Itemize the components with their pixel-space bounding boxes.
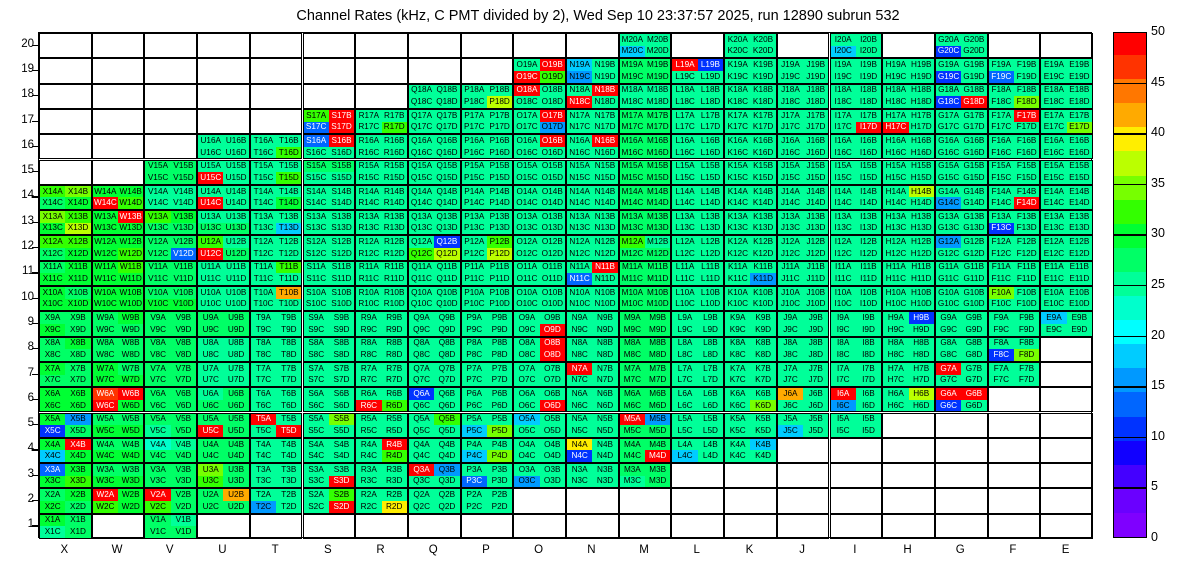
channel-X2C[interactable]: X2C <box>40 501 65 513</box>
channel-F19C[interactable]: F19C <box>989 71 1014 83</box>
channel-R11C[interactable]: R11C <box>356 273 381 285</box>
channel-K12B[interactable]: K12B <box>750 236 775 248</box>
heatmap-cell[interactable]: N12AN12BN12CN12D <box>566 235 619 260</box>
channel-Q9D[interactable]: Q9D <box>434 324 459 336</box>
heatmap-cell[interactable]: Q11AQ11BQ11CQ11D <box>408 261 461 286</box>
heatmap-cell[interactable]: X11AX11BX11CX11D <box>39 261 92 286</box>
channel-M7D[interactable]: M7D <box>645 375 670 387</box>
channel-Q5B[interactable]: Q5B <box>434 414 459 426</box>
channel-W6A[interactable]: W6A <box>93 388 118 400</box>
channel-W8A[interactable]: W8A <box>93 338 118 350</box>
heatmap-cell[interactable]: R16AR16BR16CR16D <box>355 134 408 159</box>
channel-R5B[interactable]: R5B <box>382 414 407 426</box>
channel-M20C[interactable]: M20C <box>620 46 645 58</box>
heatmap-cell[interactable]: N4AN4BN4CN4D <box>566 438 619 463</box>
channel-P5C[interactable]: P5C <box>462 425 487 437</box>
channel-T6A[interactable]: T6A <box>251 388 276 400</box>
heatmap-cell[interactable]: Q14AQ14BQ14CQ14D <box>408 185 461 210</box>
channel-N11A[interactable]: N11A <box>567 262 592 274</box>
channel-U16B[interactable]: U16B <box>223 135 248 147</box>
channel-L6A[interactable]: L6A <box>672 388 697 400</box>
heatmap-cell[interactable]: N18AN18BN18CN18D <box>566 84 619 109</box>
channel-S7D[interactable]: S7D <box>329 375 354 387</box>
channel-N9D[interactable]: N9D <box>592 324 617 336</box>
heatmap-cell[interactable]: T2AT2BT2CT2D <box>250 488 303 513</box>
channel-T8A[interactable]: T8A <box>251 338 276 350</box>
channel-T13D[interactable]: T13D <box>276 223 301 235</box>
channel-O8D[interactable]: O8D <box>540 349 565 361</box>
channel-M10C[interactable]: M10C <box>620 299 645 311</box>
channel-U7A[interactable]: U7A <box>198 363 223 375</box>
heatmap-cell[interactable]: J5AJ5BJ5CJ5D <box>777 413 830 438</box>
heatmap-cell[interactable]: I5AI5BI5CI5D <box>830 413 883 438</box>
channel-I9B[interactable]: I9B <box>856 312 881 324</box>
channel-K8A[interactable]: K8A <box>725 338 750 350</box>
channel-F13C[interactable]: F13C <box>989 223 1014 235</box>
channel-G14B[interactable]: G14B <box>961 186 986 198</box>
channel-T8C[interactable]: T8C <box>251 349 276 361</box>
channel-K10C[interactable]: K10C <box>725 299 750 311</box>
channel-J6B[interactable]: J6B <box>803 388 828 400</box>
channel-I19B[interactable]: I19B <box>856 59 881 71</box>
channel-X5C[interactable]: X5C <box>40 425 65 437</box>
heatmap-cell[interactable]: U16AU16BU16CU16D <box>197 134 250 159</box>
channel-N8C[interactable]: N8C <box>567 349 592 361</box>
channel-N13D[interactable]: N13D <box>592 223 617 235</box>
channel-I6C[interactable]: I6C <box>831 400 856 412</box>
channel-R4C[interactable]: R4C <box>356 450 381 462</box>
heatmap-cell[interactable]: P4AP4BP4CP4D <box>461 438 514 463</box>
channel-I18A[interactable]: I18A <box>831 85 856 97</box>
channel-L5B[interactable]: L5B <box>698 414 723 426</box>
channel-N6A[interactable]: N6A <box>567 388 592 400</box>
channel-N15A[interactable]: N15A <box>567 161 592 173</box>
channel-R6B[interactable]: R6B <box>382 388 407 400</box>
channel-P12C[interactable]: P12C <box>462 248 487 260</box>
channel-S4C[interactable]: S4C <box>304 450 329 462</box>
channel-Q15A[interactable]: Q15A <box>409 161 434 173</box>
channel-X5D[interactable]: X5D <box>65 425 90 437</box>
channel-P12D[interactable]: P12D <box>487 248 512 260</box>
channel-T14B[interactable]: T14B <box>276 186 301 198</box>
channel-H11B[interactable]: H11B <box>909 262 934 274</box>
channel-X14B[interactable]: X14B <box>65 186 90 198</box>
channel-M5C[interactable]: M5C <box>620 425 645 437</box>
heatmap-cell[interactable]: T15AT15BT15CT15D <box>250 160 303 185</box>
channel-H7B[interactable]: H7B <box>909 363 934 375</box>
channel-L13D[interactable]: L13D <box>698 223 723 235</box>
channel-E16C[interactable]: E16C <box>1041 147 1066 159</box>
channel-M4B[interactable]: M4B <box>645 439 670 451</box>
heatmap-cell[interactable]: M10AM10BM10CM10D <box>619 286 672 311</box>
heatmap-cell[interactable]: Q15AQ15BQ15CQ15D <box>408 160 461 185</box>
heatmap-cell[interactable]: L9AL9BL9CL9D <box>671 311 724 336</box>
channel-G7A[interactable]: G7A <box>936 363 961 375</box>
channel-X12A[interactable]: X12A <box>40 236 65 248</box>
channel-V13D[interactable]: V13D <box>171 223 196 235</box>
heatmap-cell[interactable]: M4AM4BM4CM4D <box>619 438 672 463</box>
channel-M8C[interactable]: M8C <box>620 349 645 361</box>
heatmap-cell[interactable]: L12AL12BL12CL12D <box>671 235 724 260</box>
channel-G14D[interactable]: G14D <box>961 197 986 209</box>
heatmap-cell[interactable]: U12AU12BU12CU12D <box>197 235 250 260</box>
heatmap-cell[interactable]: Q3AQ3BQ3CQ3D <box>408 463 461 488</box>
channel-X14C[interactable]: X14C <box>40 197 65 209</box>
channel-E18B[interactable]: E18B <box>1067 85 1092 97</box>
channel-E9A[interactable]: E9A <box>1041 312 1066 324</box>
channel-P14A[interactable]: P14A <box>462 186 487 198</box>
channel-T5A[interactable]: T5A <box>251 414 276 426</box>
channel-I5D[interactable]: I5D <box>856 425 881 437</box>
channel-M3C[interactable]: M3C <box>620 476 645 488</box>
channel-V14B[interactable]: V14B <box>171 186 196 198</box>
channel-X12B[interactable]: X12B <box>65 236 90 248</box>
channel-R3C[interactable]: R3C <box>356 476 381 488</box>
channel-V7D[interactable]: V7D <box>171 375 196 387</box>
channel-M9D[interactable]: M9D <box>645 324 670 336</box>
channel-O13C[interactable]: O13C <box>514 223 539 235</box>
channel-N9B[interactable]: N9B <box>592 312 617 324</box>
channel-L18C[interactable]: L18C <box>672 96 697 108</box>
channel-P14C[interactable]: P14C <box>462 197 487 209</box>
channel-U13C[interactable]: U13C <box>198 223 223 235</box>
heatmap-cell[interactable]: I8AI8BI8CI8D <box>830 337 883 362</box>
heatmap-cell[interactable]: V12AV12BV12CV12D <box>144 235 197 260</box>
heatmap-cell[interactable]: P6AP6BP6CP6D <box>461 387 514 412</box>
channel-Q5D[interactable]: Q5D <box>434 425 459 437</box>
channel-M19A[interactable]: M19A <box>620 59 645 71</box>
channel-R15C[interactable]: R15C <box>356 172 381 184</box>
channel-R10B[interactable]: R10B <box>382 287 407 299</box>
channel-U13A[interactable]: U13A <box>198 211 223 223</box>
heatmap-cell[interactable]: S12AS12BS12CS12D <box>303 235 356 260</box>
channel-P11D[interactable]: P11D <box>487 273 512 285</box>
channel-Q4B[interactable]: Q4B <box>434 439 459 451</box>
channel-O7A[interactable]: O7A <box>514 363 539 375</box>
heatmap-cell[interactable]: O17AO17BO17CO17D <box>513 109 566 134</box>
channel-J11D[interactable]: J11D <box>803 273 828 285</box>
channel-O7C[interactable]: O7C <box>514 375 539 387</box>
channel-J19C[interactable]: J19C <box>778 71 803 83</box>
heatmap-cell[interactable]: I7AI7BI7CI7D <box>830 362 883 387</box>
channel-S6D[interactable]: S6D <box>329 400 354 412</box>
channel-R7C[interactable]: R7C <box>356 375 381 387</box>
heatmap-cell[interactable]: I15AI15BI15CI15D <box>830 160 883 185</box>
heatmap-cell[interactable]: N15AN15BN15CN15D <box>566 160 619 185</box>
heatmap-cell[interactable]: W12AW12BW12CW12D <box>92 235 145 260</box>
channel-K17C[interactable]: K17C <box>725 122 750 134</box>
channel-L9D[interactable]: L9D <box>698 324 723 336</box>
channel-M14C[interactable]: M14C <box>620 197 645 209</box>
channel-T9C[interactable]: T9C <box>251 324 276 336</box>
channel-Q11C[interactable]: Q11C <box>409 273 434 285</box>
channel-V14D[interactable]: V14D <box>171 197 196 209</box>
channel-Q3A[interactable]: Q3A <box>409 464 434 476</box>
channel-I14C[interactable]: I14C <box>831 197 856 209</box>
heatmap-cell[interactable]: M15AM15BM15CM15D <box>619 160 672 185</box>
channel-L17C[interactable]: L17C <box>672 122 697 134</box>
channel-N15C[interactable]: N15C <box>567 172 592 184</box>
channel-E18A[interactable]: E18A <box>1041 85 1066 97</box>
channel-S3B[interactable]: S3B <box>329 464 354 476</box>
channel-P9B[interactable]: P9B <box>487 312 512 324</box>
channel-W10B[interactable]: W10B <box>118 287 143 299</box>
heatmap-cell[interactable]: M20AM20BM20CM20D <box>619 33 672 58</box>
channel-H17C[interactable]: H17C <box>883 122 908 134</box>
heatmap-cell[interactable]: S16AS16BS16CS16D <box>303 134 356 159</box>
channel-N6C[interactable]: N6C <box>567 400 592 412</box>
channel-H15B[interactable]: H15B <box>909 161 934 173</box>
channel-G13B[interactable]: G13B <box>961 211 986 223</box>
channel-J9C[interactable]: J9C <box>778 324 803 336</box>
channel-W9B[interactable]: W9B <box>118 312 143 324</box>
channel-L16C[interactable]: L16C <box>672 147 697 159</box>
heatmap-cell[interactable]: W10AW10BW10CW10D <box>92 286 145 311</box>
channel-R4B[interactable]: R4B <box>382 439 407 451</box>
channel-G15C[interactable]: G15C <box>936 172 961 184</box>
heatmap-cell[interactable]: M13AM13BM13CM13D <box>619 210 672 235</box>
heatmap-cell[interactable]: I12AI12BI12CI12D <box>830 235 883 260</box>
heatmap-cell[interactable]: I9AI9BI9CI9D <box>830 311 883 336</box>
channel-R14C[interactable]: R14C <box>356 197 381 209</box>
channel-Q13D[interactable]: Q13D <box>434 223 459 235</box>
channel-S7A[interactable]: S7A <box>304 363 329 375</box>
channel-O19D[interactable]: O19D <box>540 71 565 83</box>
channel-G17C[interactable]: G17C <box>936 122 961 134</box>
channel-R5A[interactable]: R5A <box>356 414 381 426</box>
channel-W2C[interactable]: W2C <box>93 501 118 513</box>
heatmap-cell[interactable]: N16AN16BN16CN16D <box>566 134 619 159</box>
channel-K17D[interactable]: K17D <box>750 122 775 134</box>
channel-E15B[interactable]: E15B <box>1067 161 1092 173</box>
channel-X11B[interactable]: X11B <box>65 262 90 274</box>
channel-U14C[interactable]: U14C <box>198 197 223 209</box>
channel-O14B[interactable]: O14B <box>540 186 565 198</box>
channel-N17B[interactable]: N17B <box>592 110 617 122</box>
channel-X13B[interactable]: X13B <box>65 211 90 223</box>
channel-M19C[interactable]: M19C <box>620 71 645 83</box>
channel-V2A[interactable]: V2A <box>145 489 170 501</box>
channel-M6A[interactable]: M6A <box>620 388 645 400</box>
channel-L12D[interactable]: L12D <box>698 248 723 260</box>
channel-H14D[interactable]: H14D <box>909 197 934 209</box>
channel-V14A[interactable]: V14A <box>145 186 170 198</box>
channel-G9B[interactable]: G9B <box>961 312 986 324</box>
channel-K18A[interactable]: K18A <box>725 85 750 97</box>
heatmap-cell[interactable]: K17AK17BK17CK17D <box>724 109 777 134</box>
channel-Q6D[interactable]: Q6D <box>434 400 459 412</box>
heatmap-cell[interactable]: E12AE12BE12CE12D <box>1040 235 1093 260</box>
channel-P12A[interactable]: P12A <box>462 236 487 248</box>
channel-I11C[interactable]: I11C <box>831 273 856 285</box>
channel-V5A[interactable]: V5A <box>145 414 170 426</box>
heatmap-cell[interactable]: J8AJ8BJ8CJ8D <box>777 337 830 362</box>
channel-U10D[interactable]: U10D <box>223 299 248 311</box>
heatmap-cell[interactable]: S10AS10BS10CS10D <box>303 286 356 311</box>
channel-K6B[interactable]: K6B <box>750 388 775 400</box>
heatmap-cell[interactable]: L11AL11BL11CL11D <box>671 261 724 286</box>
channel-M20A[interactable]: M20A <box>620 34 645 46</box>
channel-O18B[interactable]: O18B <box>540 85 565 97</box>
channel-Q4A[interactable]: Q4A <box>409 439 434 451</box>
channel-S5D[interactable]: S5D <box>329 425 354 437</box>
channel-H15C[interactable]: H15C <box>883 172 908 184</box>
heatmap-cell[interactable]: L19AL19BL19CL19D <box>671 58 724 83</box>
channel-P9D[interactable]: P9D <box>487 324 512 336</box>
channel-G13A[interactable]: G13A <box>936 211 961 223</box>
channel-P13A[interactable]: P13A <box>462 211 487 223</box>
heatmap-cell[interactable]: K14AK14BK14CK14D <box>724 185 777 210</box>
channel-S16D[interactable]: S16D <box>329 147 354 159</box>
heatmap-cell[interactable]: H14AH14BH14CH14D <box>882 185 935 210</box>
channel-R8D[interactable]: R8D <box>382 349 407 361</box>
channel-M18A[interactable]: M18A <box>620 85 645 97</box>
heatmap-cell[interactable]: L10AL10BL10CL10D <box>671 286 724 311</box>
channel-U9C[interactable]: U9C <box>198 324 223 336</box>
channel-F12D[interactable]: F12D <box>1014 248 1039 260</box>
channel-J16D[interactable]: J16D <box>803 147 828 159</box>
channel-H17B[interactable]: H17B <box>909 110 934 122</box>
channel-K12C[interactable]: K12C <box>725 248 750 260</box>
channel-W12A[interactable]: W12A <box>93 236 118 248</box>
heatmap-cell[interactable]: G9AG9BG9CG9D <box>935 311 988 336</box>
channel-R6D[interactable]: R6D <box>382 400 407 412</box>
channel-U6A[interactable]: U6A <box>198 388 223 400</box>
channel-O3D[interactable]: O3D <box>540 476 565 488</box>
channel-J11B[interactable]: J11B <box>803 262 828 274</box>
channel-F7A[interactable]: F7A <box>989 363 1014 375</box>
channel-P3A[interactable]: P3A <box>462 464 487 476</box>
channel-R16D[interactable]: R16D <box>382 147 407 159</box>
heatmap-cell[interactable]: R10AR10BR10CR10D <box>355 286 408 311</box>
channel-O15C[interactable]: O15C <box>514 172 539 184</box>
channel-F14A[interactable]: F14A <box>989 186 1014 198</box>
channel-Q14D[interactable]: Q14D <box>434 197 459 209</box>
channel-V11B[interactable]: V11B <box>171 262 196 274</box>
channel-M11A[interactable]: M11A <box>620 262 645 274</box>
channel-K15B[interactable]: K15B <box>750 161 775 173</box>
channel-L14C[interactable]: L14C <box>672 197 697 209</box>
heatmap-cell[interactable]: O9AO9BO9CO9D <box>513 311 566 336</box>
channel-J17C[interactable]: J17C <box>778 122 803 134</box>
channel-K11B[interactable]: K11B <box>750 262 775 274</box>
channel-F18D[interactable]: F18D <box>1014 96 1039 108</box>
channel-O17C[interactable]: O17C <box>514 122 539 134</box>
channel-X11A[interactable]: X11A <box>40 262 65 274</box>
channel-M16C[interactable]: M16C <box>620 147 645 159</box>
channel-O15B[interactable]: O15B <box>540 161 565 173</box>
heatmap-cell[interactable]: N5AN5BN5CN5D <box>566 413 619 438</box>
channel-S11C[interactable]: S11C <box>304 273 329 285</box>
heatmap-cell[interactable]: O11AO11BO11CO11D <box>513 261 566 286</box>
channel-M9C[interactable]: M9C <box>620 324 645 336</box>
heatmap-cell[interactable]: Q5AQ5BQ5CQ5D <box>408 413 461 438</box>
channel-L14D[interactable]: L14D <box>698 197 723 209</box>
channel-M6B[interactable]: M6B <box>645 388 670 400</box>
heatmap-cell[interactable]: P3AP3BP3CP3D <box>461 463 514 488</box>
channel-G10A[interactable]: G10A <box>936 287 961 299</box>
channel-O14D[interactable]: O14D <box>540 197 565 209</box>
channel-S8C[interactable]: S8C <box>304 349 329 361</box>
channel-S11A[interactable]: S11A <box>304 262 329 274</box>
heatmap-cell[interactable]: R9AR9BR9CR9D <box>355 311 408 336</box>
channel-N5C[interactable]: N5C <box>567 425 592 437</box>
channel-O10D[interactable]: O10D <box>540 299 565 311</box>
channel-R2B[interactable]: R2B <box>382 489 407 501</box>
heatmap-cell[interactable]: M14AM14BM14CM14D <box>619 185 672 210</box>
channel-R12A[interactable]: R12A <box>356 236 381 248</box>
channel-W3B[interactable]: W3B <box>118 464 143 476</box>
channel-G6D[interactable]: G6D <box>961 400 986 412</box>
channel-K14C[interactable]: K14C <box>725 197 750 209</box>
channel-P18A[interactable]: P18A <box>462 85 487 97</box>
channel-E15C[interactable]: E15C <box>1041 172 1066 184</box>
channel-F15C[interactable]: F15C <box>989 172 1014 184</box>
heatmap-cell[interactable]: X12AX12BX12CX12D <box>39 235 92 260</box>
channel-E17B[interactable]: E17B <box>1067 110 1092 122</box>
heatmap-cell[interactable]: U2AU2BU2CU2D <box>197 488 250 513</box>
channel-P10D[interactable]: P10D <box>487 299 512 311</box>
channel-O18A[interactable]: O18A <box>514 85 539 97</box>
channel-X4B[interactable]: X4B <box>65 439 90 451</box>
channel-G8C[interactable]: G8C <box>936 349 961 361</box>
channel-S13D[interactable]: S13D <box>329 223 354 235</box>
channel-W2D[interactable]: W2D <box>118 501 143 513</box>
channel-J12D[interactable]: J12D <box>803 248 828 260</box>
heatmap-cell[interactable]: F7AF7BF7CF7D <box>988 362 1041 387</box>
heatmap-cell[interactable]: X2AX2BX2CX2D <box>39 488 92 513</box>
channel-L17D[interactable]: L17D <box>698 122 723 134</box>
channel-I14B[interactable]: I14B <box>856 186 881 198</box>
channel-W6D[interactable]: W6D <box>118 400 143 412</box>
channel-J13A[interactable]: J13A <box>778 211 803 223</box>
channel-N6B[interactable]: N6B <box>592 388 617 400</box>
channel-V8C[interactable]: V8C <box>145 349 170 361</box>
heatmap-cell[interactable]: E14AE14BE14CE14D <box>1040 185 1093 210</box>
channel-R15D[interactable]: R15D <box>382 172 407 184</box>
channel-U11A[interactable]: U11A <box>198 262 223 274</box>
channel-R12B[interactable]: R12B <box>382 236 407 248</box>
channel-O13B[interactable]: O13B <box>540 211 565 223</box>
channel-M18B[interactable]: M18B <box>645 85 670 97</box>
channel-L4B[interactable]: L4B <box>698 439 723 451</box>
heatmap-cell[interactable]: U8AU8BU8CU8D <box>197 337 250 362</box>
channel-N3C[interactable]: N3C <box>567 476 592 488</box>
channel-G7C[interactable]: G7C <box>936 375 961 387</box>
channel-S11B[interactable]: S11B <box>329 262 354 274</box>
channel-K5D[interactable]: K5D <box>750 425 775 437</box>
channel-K17A[interactable]: K17A <box>725 110 750 122</box>
channel-J12A[interactable]: J12A <box>778 236 803 248</box>
channel-W13B[interactable]: W13B <box>118 211 143 223</box>
channel-I6D[interactable]: I6D <box>856 400 881 412</box>
heatmap-cell[interactable]: M18AM18BM18CM18D <box>619 84 672 109</box>
channel-T5D[interactable]: T5D <box>276 425 301 437</box>
channel-H13D[interactable]: H13D <box>909 223 934 235</box>
channel-E19A[interactable]: E19A <box>1041 59 1066 71</box>
channel-T13B[interactable]: T13B <box>276 211 301 223</box>
channel-T4B[interactable]: T4B <box>276 439 301 451</box>
channel-F14D[interactable]: F14D <box>1014 197 1039 209</box>
heatmap-cell[interactable]: W8AW8BW8CW8D <box>92 337 145 362</box>
channel-P2A[interactable]: P2A <box>462 489 487 501</box>
channel-W8D[interactable]: W8D <box>118 349 143 361</box>
channel-N17D[interactable]: N17D <box>592 122 617 134</box>
channel-S6B[interactable]: S6B <box>329 388 354 400</box>
heatmap-cell[interactable]: K12AK12BK12CK12D <box>724 235 777 260</box>
channel-E13B[interactable]: E13B <box>1067 211 1092 223</box>
channel-N10A[interactable]: N10A <box>567 287 592 299</box>
